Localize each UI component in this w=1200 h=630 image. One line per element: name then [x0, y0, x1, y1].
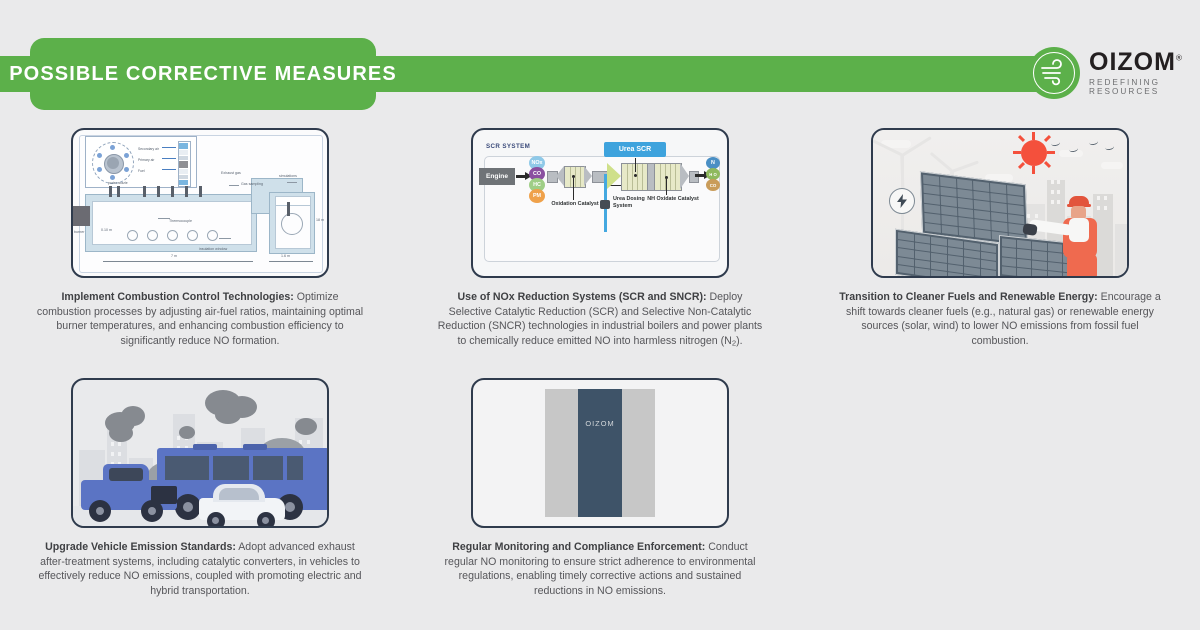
- card-heading: Transition to Cleaner Fuels and Renewabl…: [839, 291, 1097, 303]
- urea-scr-badge: Urea SCR: [604, 142, 666, 157]
- oizom-placeholder-image: OIZOM: [471, 378, 729, 528]
- card-caption: Regular Monitoring and Compliance Enforc…: [435, 540, 765, 598]
- caption-nh3-oxidate-catalyst: NH Oxidate Catalyst: [645, 196, 701, 203]
- card-caption: Transition to Cleaner Fuels and Renewabl…: [835, 290, 1165, 348]
- card-heading: Regular Monitoring and Compliance Enforc…: [452, 541, 705, 553]
- header-title-pill: POSSIBLE CORRECTIVE MEASURES: [30, 38, 376, 110]
- page-header: POSSIBLE CORRECTIVE MEASURES: [0, 38, 1200, 110]
- measure-card-monitoring-compliance[interactable]: OIZOM Regular Monitoring and Compliance …: [400, 378, 800, 598]
- solar-panel-worker-illustration: [871, 128, 1129, 278]
- card-caption: Upgrade Vehicle Emission Standards: Adop…: [35, 540, 365, 598]
- page-title: POSSIBLE CORRECTIVE MEASURES: [9, 63, 397, 86]
- card-heading: Upgrade Vehicle Emission Standards:: [45, 541, 236, 553]
- card-caption: Use of NOx Reduction Systems (SCR and SN…: [435, 290, 765, 351]
- brand-logo[interactable]: OIZOM® REDEFINING RESOURCES: [1028, 42, 1200, 104]
- caption-oxidation-catalyst: Oxidation Catalyst: [547, 201, 603, 208]
- measure-card-nox-reduction[interactable]: SCR SYSTEM Engine NOx CO HC PM Oxidatio: [400, 128, 800, 351]
- measure-card-combustion-control[interactable]: Secondary air Primary air Fuel porter no…: [0, 128, 400, 351]
- electricity-badge-icon: [889, 188, 915, 214]
- logo-wordmark: OIZOM®: [1089, 50, 1200, 75]
- placeholder-watermark: OIZOM: [585, 419, 614, 428]
- measures-grid: Secondary air Primary air Fuel porter no…: [0, 128, 1200, 598]
- measure-card-cleaner-fuels[interactable]: Transition to Cleaner Fuels and Renewabl…: [800, 128, 1200, 351]
- combustion-chamber-schematic: Secondary air Primary air Fuel porter no…: [71, 128, 329, 278]
- measures-row-1: Secondary air Primary air Fuel porter no…: [0, 128, 1200, 351]
- measures-row-2-empty-slot: [800, 378, 1200, 598]
- placeholder-band: OIZOM: [578, 389, 622, 517]
- measures-row-2: Upgrade Vehicle Emission Standards: Adop…: [0, 378, 1200, 598]
- species-bubble-pm: PM: [529, 189, 545, 203]
- card-heading: Implement Combustion Control Technologie…: [61, 291, 293, 303]
- placeholder-panel: OIZOM: [545, 389, 655, 517]
- logo-tagline: REDEFINING RESOURCES: [1089, 79, 1200, 95]
- measure-card-vehicle-standards[interactable]: Upgrade Vehicle Emission Standards: Adop…: [0, 378, 400, 598]
- scr-diagram-title: SCR SYSTEM: [486, 143, 530, 150]
- card-caption: Implement Combustion Control Technologie…: [35, 290, 365, 348]
- vehicle-emissions-illustration: [71, 378, 329, 528]
- engine-block-label: Engine: [479, 168, 515, 185]
- species-bubble-co2: CO: [706, 179, 720, 191]
- card-heading: Use of NOx Reduction Systems (SCR and SN…: [458, 291, 707, 303]
- scr-system-diagram: SCR SYSTEM Engine NOx CO HC PM Oxidatio: [471, 128, 729, 278]
- wind-swirl-icon: [1028, 47, 1080, 99]
